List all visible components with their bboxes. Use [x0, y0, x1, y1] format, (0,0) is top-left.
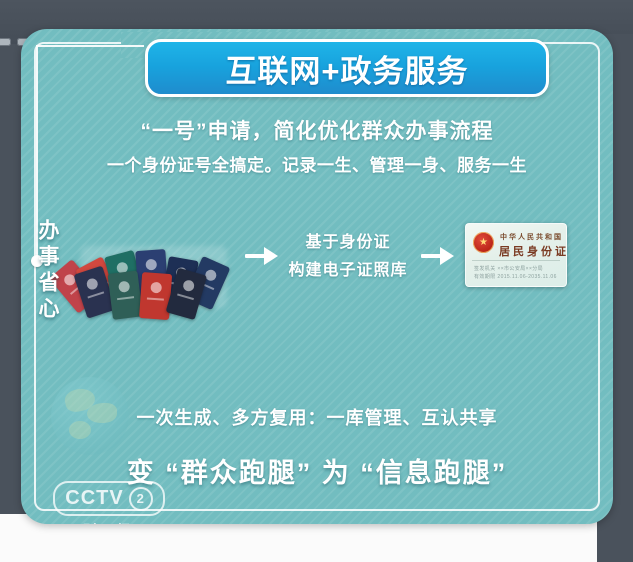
cctv-channel-name: 财 经: [53, 520, 161, 524]
cctv-logo-text: CCTV: [65, 487, 123, 510]
cctv-channel-number: 2: [129, 487, 153, 511]
poster-reuse-line: 一次生成、多方复用：一库管理、互认共享: [21, 404, 613, 430]
id-card-meta-2: 有效期限 2015.11.06-2035.11.06: [474, 273, 560, 281]
flow-arrow-2-icon: [421, 243, 455, 269]
id-card-image: 中华人民共和国 居民身份证 签发机关 ××市公安局××分局 有效期限 2015.…: [465, 223, 567, 287]
flow-caption-line-1: 基于身份证: [273, 229, 423, 257]
passport-item: [139, 272, 172, 320]
cctv-logo: CCTV 2 财 经: [53, 481, 168, 524]
poster-side-label: 办事省心: [26, 219, 62, 323]
passport-fan-image: [73, 205, 233, 310]
screenshot-root: 互联网+政务服务 “一号”申请，简化优化群众办事流程 一个身份证号全搞定。记录一…: [0, 0, 633, 562]
flow-caption-line-2: 构建电子证照库: [273, 257, 423, 285]
id-card-meta-1: 签发机关 ××市公安局××分局: [474, 265, 560, 273]
poster-title-badge[interactable]: 互联网+政务服务: [145, 39, 549, 97]
id-card-title: 居民身份证: [499, 243, 562, 259]
poster-card: 互联网+政务服务 “一号”申请，简化优化群众办事流程 一个身份证号全搞定。记录一…: [21, 29, 613, 524]
id-card-country: 中华人民共和国: [500, 232, 562, 242]
poster-title-text: 互联网+政务服务: [225, 46, 468, 91]
poster-subtitle-secondary: 一个身份证号全搞定。记录一生、管理一身、服务一生: [21, 151, 613, 176]
header-indicator-1[interactable]: [0, 38, 11, 46]
id-card-divider: [472, 260, 560, 261]
national-emblem-icon: [473, 232, 494, 253]
flow-center-caption: 基于身份证 构建电子证照库: [273, 229, 423, 285]
cctv-logo-mark: CCTV 2: [53, 481, 165, 516]
poster-subtitle-main: “一号”申请，简化优化群众办事流程: [21, 115, 613, 145]
passport-item: [108, 271, 143, 320]
process-flow-row: 基于身份证 构建电子证照库 中华人民共和国 居民身份证 签发机关 ××市公安局×…: [21, 207, 613, 317]
